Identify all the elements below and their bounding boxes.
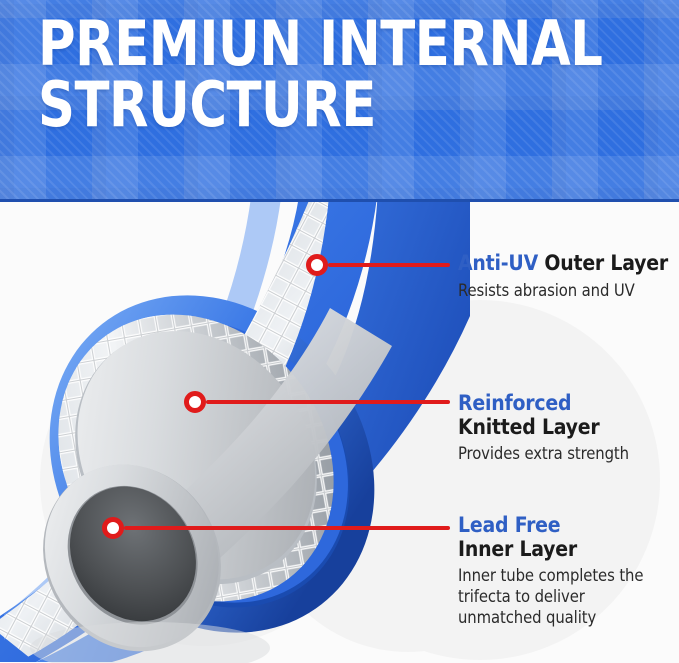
callout-titletext-outer-layer: Outer Layer: [544, 251, 668, 275]
callout-line-inner-layer: [124, 526, 450, 530]
callout-line-outer-layer: [328, 263, 450, 267]
callout-marker-outer-layer[interactable]: [306, 254, 328, 276]
callout-title-outer-layer: Anti-UV Outer Layer: [458, 252, 673, 276]
infographic-page: PREMIUN INTERNAL STRUCTURE Anti-UV Outer…: [0, 0, 679, 663]
callout-title-inner-layer: Lead Free Inner Layer: [458, 514, 673, 561]
header-bottom-divider: [0, 199, 679, 202]
callout-subtitle-inner-layer: Inner tube completes the trifecta to del…: [458, 566, 673, 628]
callout-titletext-knitted-layer: Knitted Layer: [458, 416, 673, 440]
callout-accent-inner-layer: Lead Free: [458, 514, 673, 538]
callout-title-knitted-layer: Reinforced Knitted Layer: [458, 392, 673, 439]
callout-accent-outer-layer: Anti-UV: [458, 251, 538, 275]
callout-subtitle-knitted-layer: Provides extra strength: [458, 444, 673, 465]
callout-label-knitted-layer: Reinforced Knitted Layer Provides extra …: [458, 392, 673, 465]
page-title: PREMIUN INTERNAL STRUCTURE: [38, 14, 613, 136]
callout-titletext-inner-layer: Inner Layer: [458, 538, 673, 562]
callout-marker-knitted-layer[interactable]: [184, 391, 206, 413]
callout-subtitle-outer-layer: Resists abrasion and UV: [458, 281, 673, 302]
header-banner: PREMIUN INTERNAL STRUCTURE: [0, 0, 679, 202]
callout-label-outer-layer: Anti-UV Outer Layer Resists abrasion and…: [458, 252, 673, 301]
callout-marker-inner-layer[interactable]: [102, 517, 124, 539]
callout-accent-knitted-layer: Reinforced: [458, 392, 673, 416]
callout-label-inner-layer: Lead Free Inner Layer Inner tube complet…: [458, 514, 673, 628]
callout-line-knitted-layer: [206, 400, 450, 404]
